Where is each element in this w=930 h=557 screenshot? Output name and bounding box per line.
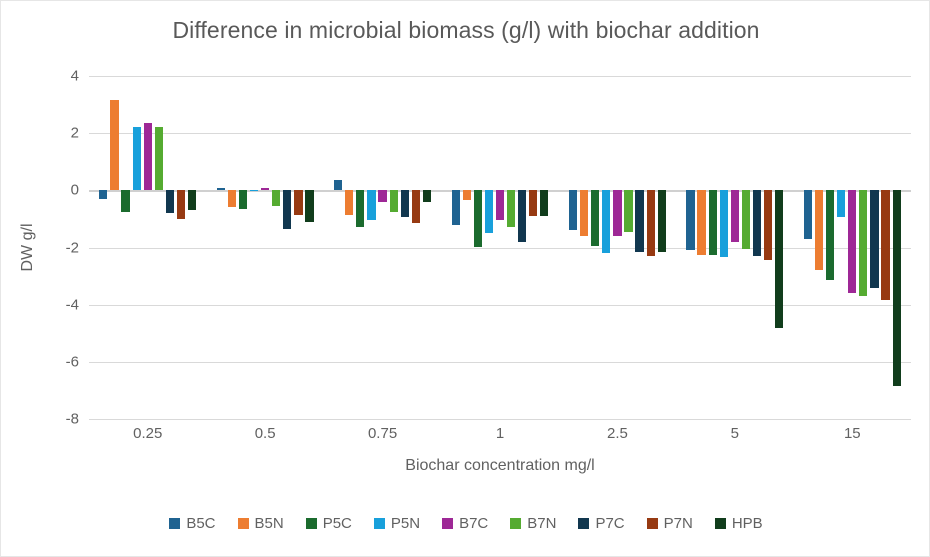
bar-B5C-0.75[interactable] [334,180,342,190]
legend-swatch-icon [169,518,180,529]
x-axis-title: Biochar concentration mg/l [89,457,911,475]
bar-group [794,76,911,419]
x-axis-ticks: 0.250.50.7512.5515 [89,425,911,447]
legend-item-P5C[interactable]: P5C [306,515,352,532]
bar-B5C-1[interactable] [452,190,460,224]
legend-label: P7N [664,515,693,532]
bar-B5C-0.5[interactable] [217,188,225,190]
legend-item-HPB[interactable]: HPB [715,515,763,532]
y-axis-tick-label: -2 [66,239,79,256]
bar-P5C-0.25[interactable] [121,190,129,211]
bar-B5N-15[interactable] [815,190,823,270]
bar-B5N-0.75[interactable] [345,190,353,214]
bar-B5N-0.5[interactable] [228,190,236,207]
bar-B7C-0.25[interactable] [144,123,152,190]
bar-group [324,76,441,419]
bar-P5N-1[interactable] [485,190,493,233]
legend-label: P7C [595,515,624,532]
bar-B5N-0.25[interactable] [110,100,118,190]
bar-P7N-0.25[interactable] [177,190,185,219]
y-axis-title-container: DW g/l [1,76,41,419]
legend-item-P5N[interactable]: P5N [374,515,420,532]
bar-HPB-0.25[interactable] [188,190,196,210]
bar-HPB-5[interactable] [775,190,783,327]
bar-P7N-1[interactable] [529,190,537,216]
legend-label: B7N [527,515,556,532]
y-axis-tick-label: 2 [71,125,79,142]
bar-B7N-0.25[interactable] [155,127,163,190]
bar-P5C-5[interactable] [709,190,717,254]
bar-P7C-5[interactable] [753,190,761,256]
x-axis-tick-label: 1 [496,425,504,442]
bar-P5N-5[interactable] [720,190,728,257]
y-axis-tick-label: -6 [66,353,79,370]
bar-P5C-0.75[interactable] [356,190,364,227]
legend-item-B7C[interactable]: B7C [442,515,488,532]
legend-item-B7N[interactable]: B7N [510,515,556,532]
legend-swatch-icon [238,518,249,529]
bar-P7C-0.25[interactable] [166,190,174,213]
y-axis-title: DW g/l [19,76,41,419]
bar-B5N-1[interactable] [463,190,471,200]
bar-B7C-0.5[interactable] [261,188,269,190]
bar-P5N-0.25[interactable] [133,127,141,190]
bar-P7C-0.5[interactable] [283,190,291,229]
legend-swatch-icon [374,518,385,529]
bar-P5C-15[interactable] [826,190,834,280]
x-axis-tick-label: 0.75 [368,425,397,442]
bar-group [89,76,206,419]
bar-group [559,76,676,419]
x-axis-tick-label: 15 [844,425,861,442]
bar-group [676,76,793,419]
legend-swatch-icon [647,518,658,529]
legend: B5CB5NP5CP5NB7CB7NP7CP7NHPB [1,515,930,532]
legend-swatch-icon [715,518,726,529]
bar-HPB-15[interactable] [893,190,901,386]
y-axis-tick-label: -8 [66,411,79,428]
bar-P5N-0.5[interactable] [250,190,258,191]
chart-title: Difference in microbial biomass (g/l) wi… [1,17,930,44]
legend-label: P5N [391,515,420,532]
legend-swatch-icon [510,518,521,529]
bar-P7N-15[interactable] [881,190,889,300]
bar-B7N-15[interactable] [859,190,867,296]
bar-B5N-5[interactable] [697,190,705,254]
legend-item-P7C[interactable]: P7C [578,515,624,532]
bar-P7C-0.75[interactable] [401,190,409,217]
y-axis-tick-label: 4 [71,68,79,85]
bar-B7C-1[interactable] [496,190,504,220]
legend-swatch-icon [306,518,317,529]
plot-area: 420-2-4-6-8 [89,76,911,419]
bar-B7C-5[interactable] [731,190,739,241]
bar-B7N-5[interactable] [742,190,750,249]
bar-B7C-2.5[interactable] [613,190,621,236]
bar-P5C-2.5[interactable] [591,190,599,246]
bar-P5N-0.75[interactable] [367,190,375,220]
bar-B7N-1[interactable] [507,190,515,227]
bar-B7C-15[interactable] [848,190,856,293]
bar-P7N-0.75[interactable] [412,190,420,223]
bar-P7N-0.5[interactable] [294,190,302,214]
bar-P7N-5[interactable] [764,190,772,260]
legend-swatch-icon [578,518,589,529]
bar-P7C-15[interactable] [870,190,878,287]
bar-P5N-15[interactable] [837,190,845,217]
bar-P7C-2.5[interactable] [635,190,643,251]
bars-layer [89,76,911,419]
legend-item-B5C[interactable]: B5C [169,515,215,532]
x-axis-tick-label: 0.25 [133,425,162,442]
bar-P5C-1[interactable] [474,190,482,247]
legend-label: HPB [732,515,763,532]
bar-group [441,76,558,419]
bar-B5C-15[interactable] [804,190,812,239]
x-axis-tick-label: 0.5 [255,425,276,442]
bar-B5C-0.25[interactable] [99,190,107,199]
bar-group [206,76,323,419]
bar-P5N-2.5[interactable] [602,190,610,253]
legend-label: P5C [323,515,352,532]
legend-label: B7C [459,515,488,532]
bar-P7C-1[interactable] [518,190,526,241]
y-axis-tick-label: -4 [66,296,79,313]
bar-B7N-0.75[interactable] [390,190,398,211]
bar-B5C-2.5[interactable] [569,190,577,230]
bar-B7N-2.5[interactable] [624,190,632,231]
bar-B7N-0.5[interactable] [272,190,280,206]
bar-B5C-5[interactable] [686,190,694,250]
legend-label: B5C [186,515,215,532]
bar-HPB-0.5[interactable] [305,190,313,221]
chart-container: Difference in microbial biomass (g/l) wi… [0,0,930,557]
bar-P7N-2.5[interactable] [647,190,655,256]
y-axis-tick-label: 0 [71,182,79,199]
bar-P5C-0.5[interactable] [239,190,247,209]
x-axis-tick-label: 2.5 [607,425,628,442]
bar-HPB-0.75[interactable] [423,190,431,201]
legend-item-B5N[interactable]: B5N [238,515,284,532]
bar-HPB-1[interactable] [540,190,548,216]
legend-label: B5N [255,515,284,532]
x-axis-tick-label: 5 [731,425,739,442]
bar-HPB-2.5[interactable] [658,190,666,251]
bar-B7C-0.75[interactable] [378,190,386,201]
legend-swatch-icon [442,518,453,529]
bar-B5N-2.5[interactable] [580,190,588,236]
legend-item-P7N[interactable]: P7N [647,515,693,532]
gridline-neg8 [89,419,911,420]
